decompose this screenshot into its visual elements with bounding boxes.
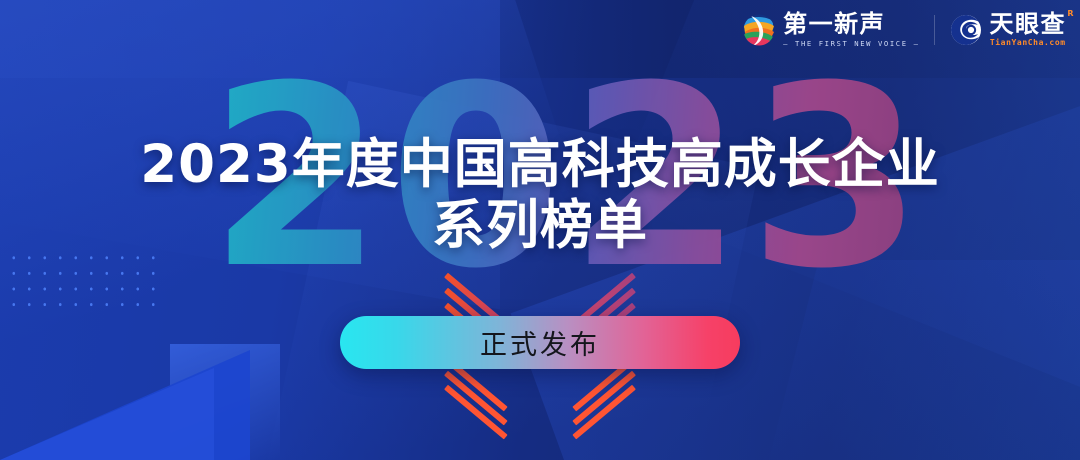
swirl-globe-icon (742, 13, 776, 47)
logo-bar: 第一新声 — THE FIRST NEW VOICE — 天眼查R (742, 12, 1066, 47)
background-glow-bottom-left (170, 344, 280, 460)
logo-tianyancha-name-text: 天眼查 (990, 10, 1067, 38)
logo-diyixinsheng[interactable]: 第一新声 — THE FIRST NEW VOICE — (742, 12, 919, 47)
logo-tianyancha-tagline: TianYanCha.com (990, 39, 1067, 47)
announcement-banner: 2023 2023年度中国高科技高成 (0, 0, 1080, 460)
logo-divider (934, 15, 935, 45)
publish-cta-button[interactable]: 正式发布 (340, 316, 740, 369)
headline-line-1: 2023年度中国高科技高成长企业 (0, 136, 1080, 193)
publish-cta-label: 正式发布 (480, 323, 600, 362)
background-triangle-bottom-left-2 (0, 368, 214, 460)
logo-diyixinsheng-text: 第一新声 — THE FIRST NEW VOICE — (783, 12, 919, 47)
eye-lens-icon (949, 13, 983, 47)
registered-mark-icon: R (1067, 10, 1075, 18)
headline-line-2: 系列榜单 (0, 195, 1080, 258)
background-triangle-bottom-left (0, 350, 250, 460)
logo-diyixinsheng-name: 第一新声 (783, 12, 919, 36)
page-title: 2023年度中国高科技高成长企业 系列榜单 (0, 136, 1080, 258)
logo-tianyancha[interactable]: 天眼查R TianYanCha.com (949, 12, 1067, 47)
logo-tianyancha-text: 天眼查R TianYanCha.com (990, 12, 1067, 47)
logo-diyixinsheng-tagline: — THE FIRST NEW VOICE — (783, 40, 919, 47)
logo-tianyancha-name: 天眼查R (990, 12, 1067, 36)
